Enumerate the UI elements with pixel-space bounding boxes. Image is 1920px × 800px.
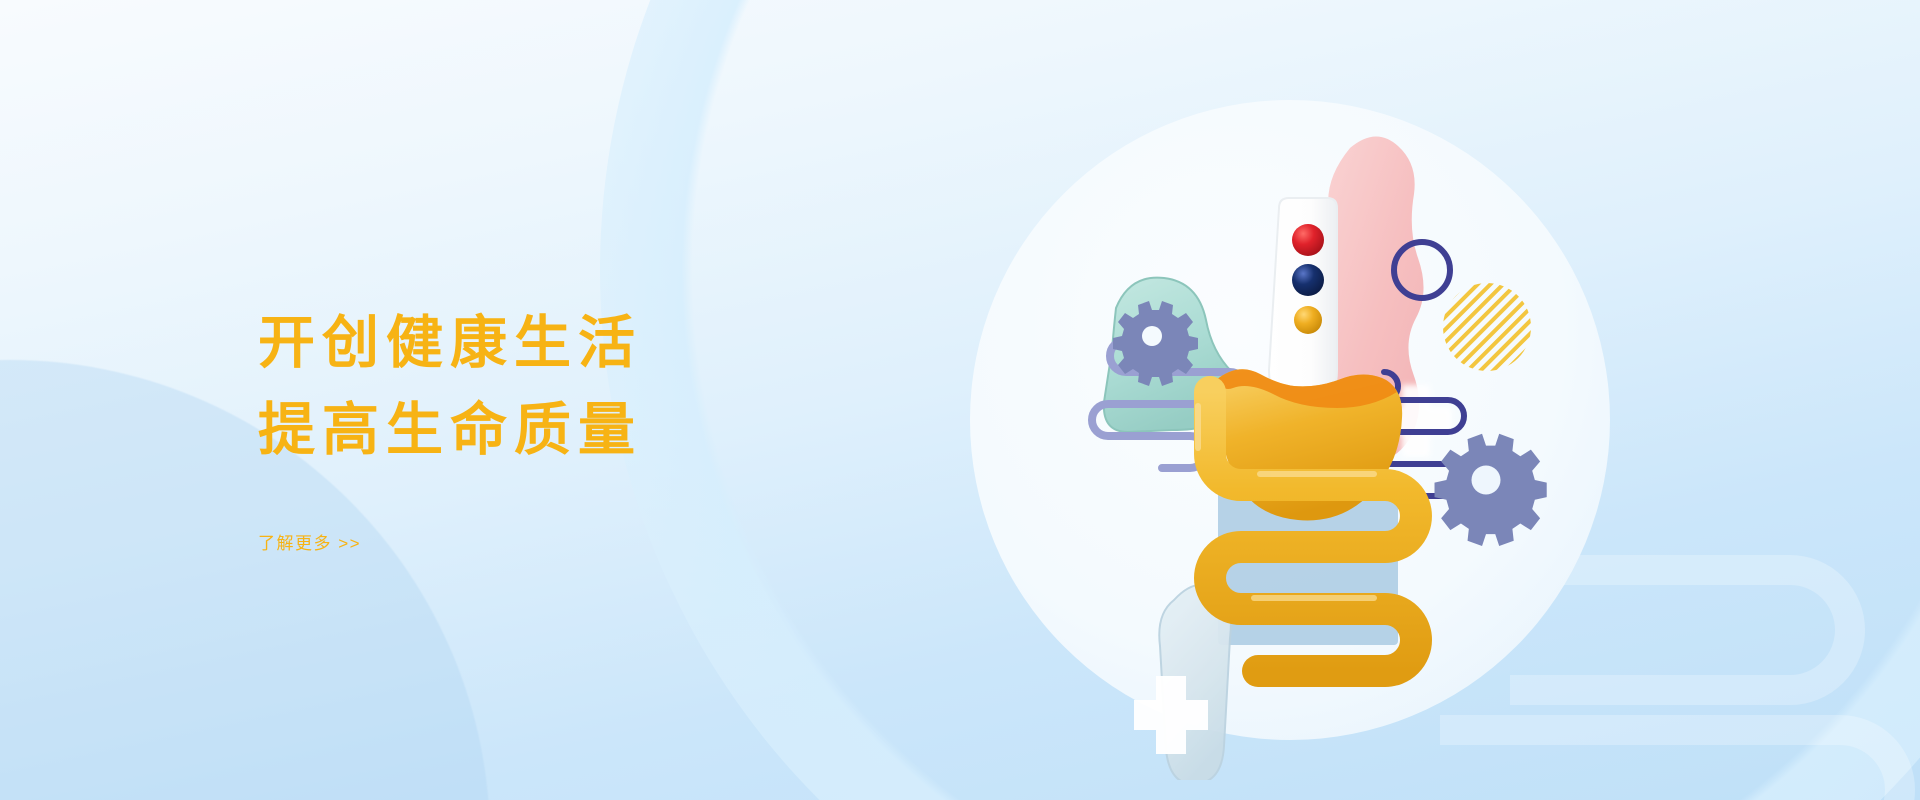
page-title-line-2: 提高生命质量 <box>258 387 878 474</box>
digestive-health-illustration <box>930 40 1630 780</box>
page-title-line-1: 开创健康生活 <box>258 300 878 387</box>
gear-large-icon <box>1435 434 1547 546</box>
illustration-container <box>930 40 1630 780</box>
pill-navy <box>1292 264 1324 296</box>
striped-circle-icon <box>1443 283 1531 371</box>
hero-copy-block: 开创健康生活 提高生命质量 了解更多 >> <box>258 300 878 554</box>
gear-small-icon <box>1113 301 1198 386</box>
pill-yellow <box>1294 306 1322 334</box>
pill-red <box>1292 224 1324 256</box>
learn-more-link[interactable]: 了解更多 >> <box>258 529 361 554</box>
